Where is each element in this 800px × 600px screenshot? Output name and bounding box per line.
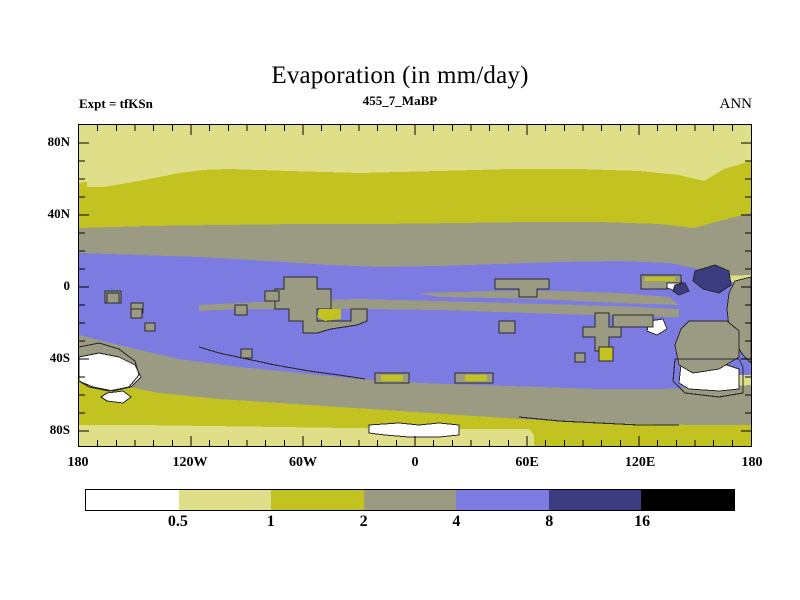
y-tick-80s: 80S <box>10 422 70 438</box>
colorbar: 0.5 1 2 4 8 16 <box>85 489 735 511</box>
season-label: ANN <box>720 96 753 113</box>
x-tick-60w: 60W <box>268 455 338 471</box>
colorbar-segment-gt-16 <box>641 490 734 510</box>
colorbar-label-16: 16 <box>612 513 672 531</box>
x-tick-60e: 60E <box>492 455 562 471</box>
colorbar-segment-1-to-2 <box>271 490 364 510</box>
figure-canvas: Evaporation (in mm/day) 455_7_MaBP Expt … <box>0 0 800 600</box>
x-tick-120w: 120W <box>155 455 225 471</box>
colorbar-label-1: 1 <box>241 513 301 531</box>
experiment-label: Expt = tfKSn <box>79 96 153 112</box>
x-tick-180w: 180 <box>43 455 113 471</box>
colorbar-segment-0-5-to-1 <box>179 490 272 510</box>
colorbar-label-8: 8 <box>519 513 579 531</box>
colorbar-label-2: 2 <box>334 513 394 531</box>
y-tick-0: 0 <box>10 278 70 294</box>
x-tick-180e: 180 <box>717 455 787 471</box>
y-tick-40s: 40S <box>10 350 70 366</box>
contour-map-plot[interactable] <box>78 124 752 447</box>
colorbar-strip[interactable] <box>85 489 735 511</box>
colorbar-label-4: 4 <box>426 513 486 531</box>
page-title: Evaporation (in mm/day) <box>0 62 800 90</box>
colorbar-segment-4-to-8 <box>456 490 549 510</box>
colorbar-segment-lt-0-5 <box>86 490 179 510</box>
x-tick-0: 0 <box>380 455 450 471</box>
colorbar-segment-8-to-16 <box>549 490 642 510</box>
colorbar-segment-2-to-4 <box>364 490 457 510</box>
x-tick-120e: 120E <box>605 455 675 471</box>
y-tick-40n: 40N <box>10 206 70 222</box>
colorbar-label-0-5: 0.5 <box>148 513 208 531</box>
y-tick-80n: 80N <box>10 134 70 150</box>
